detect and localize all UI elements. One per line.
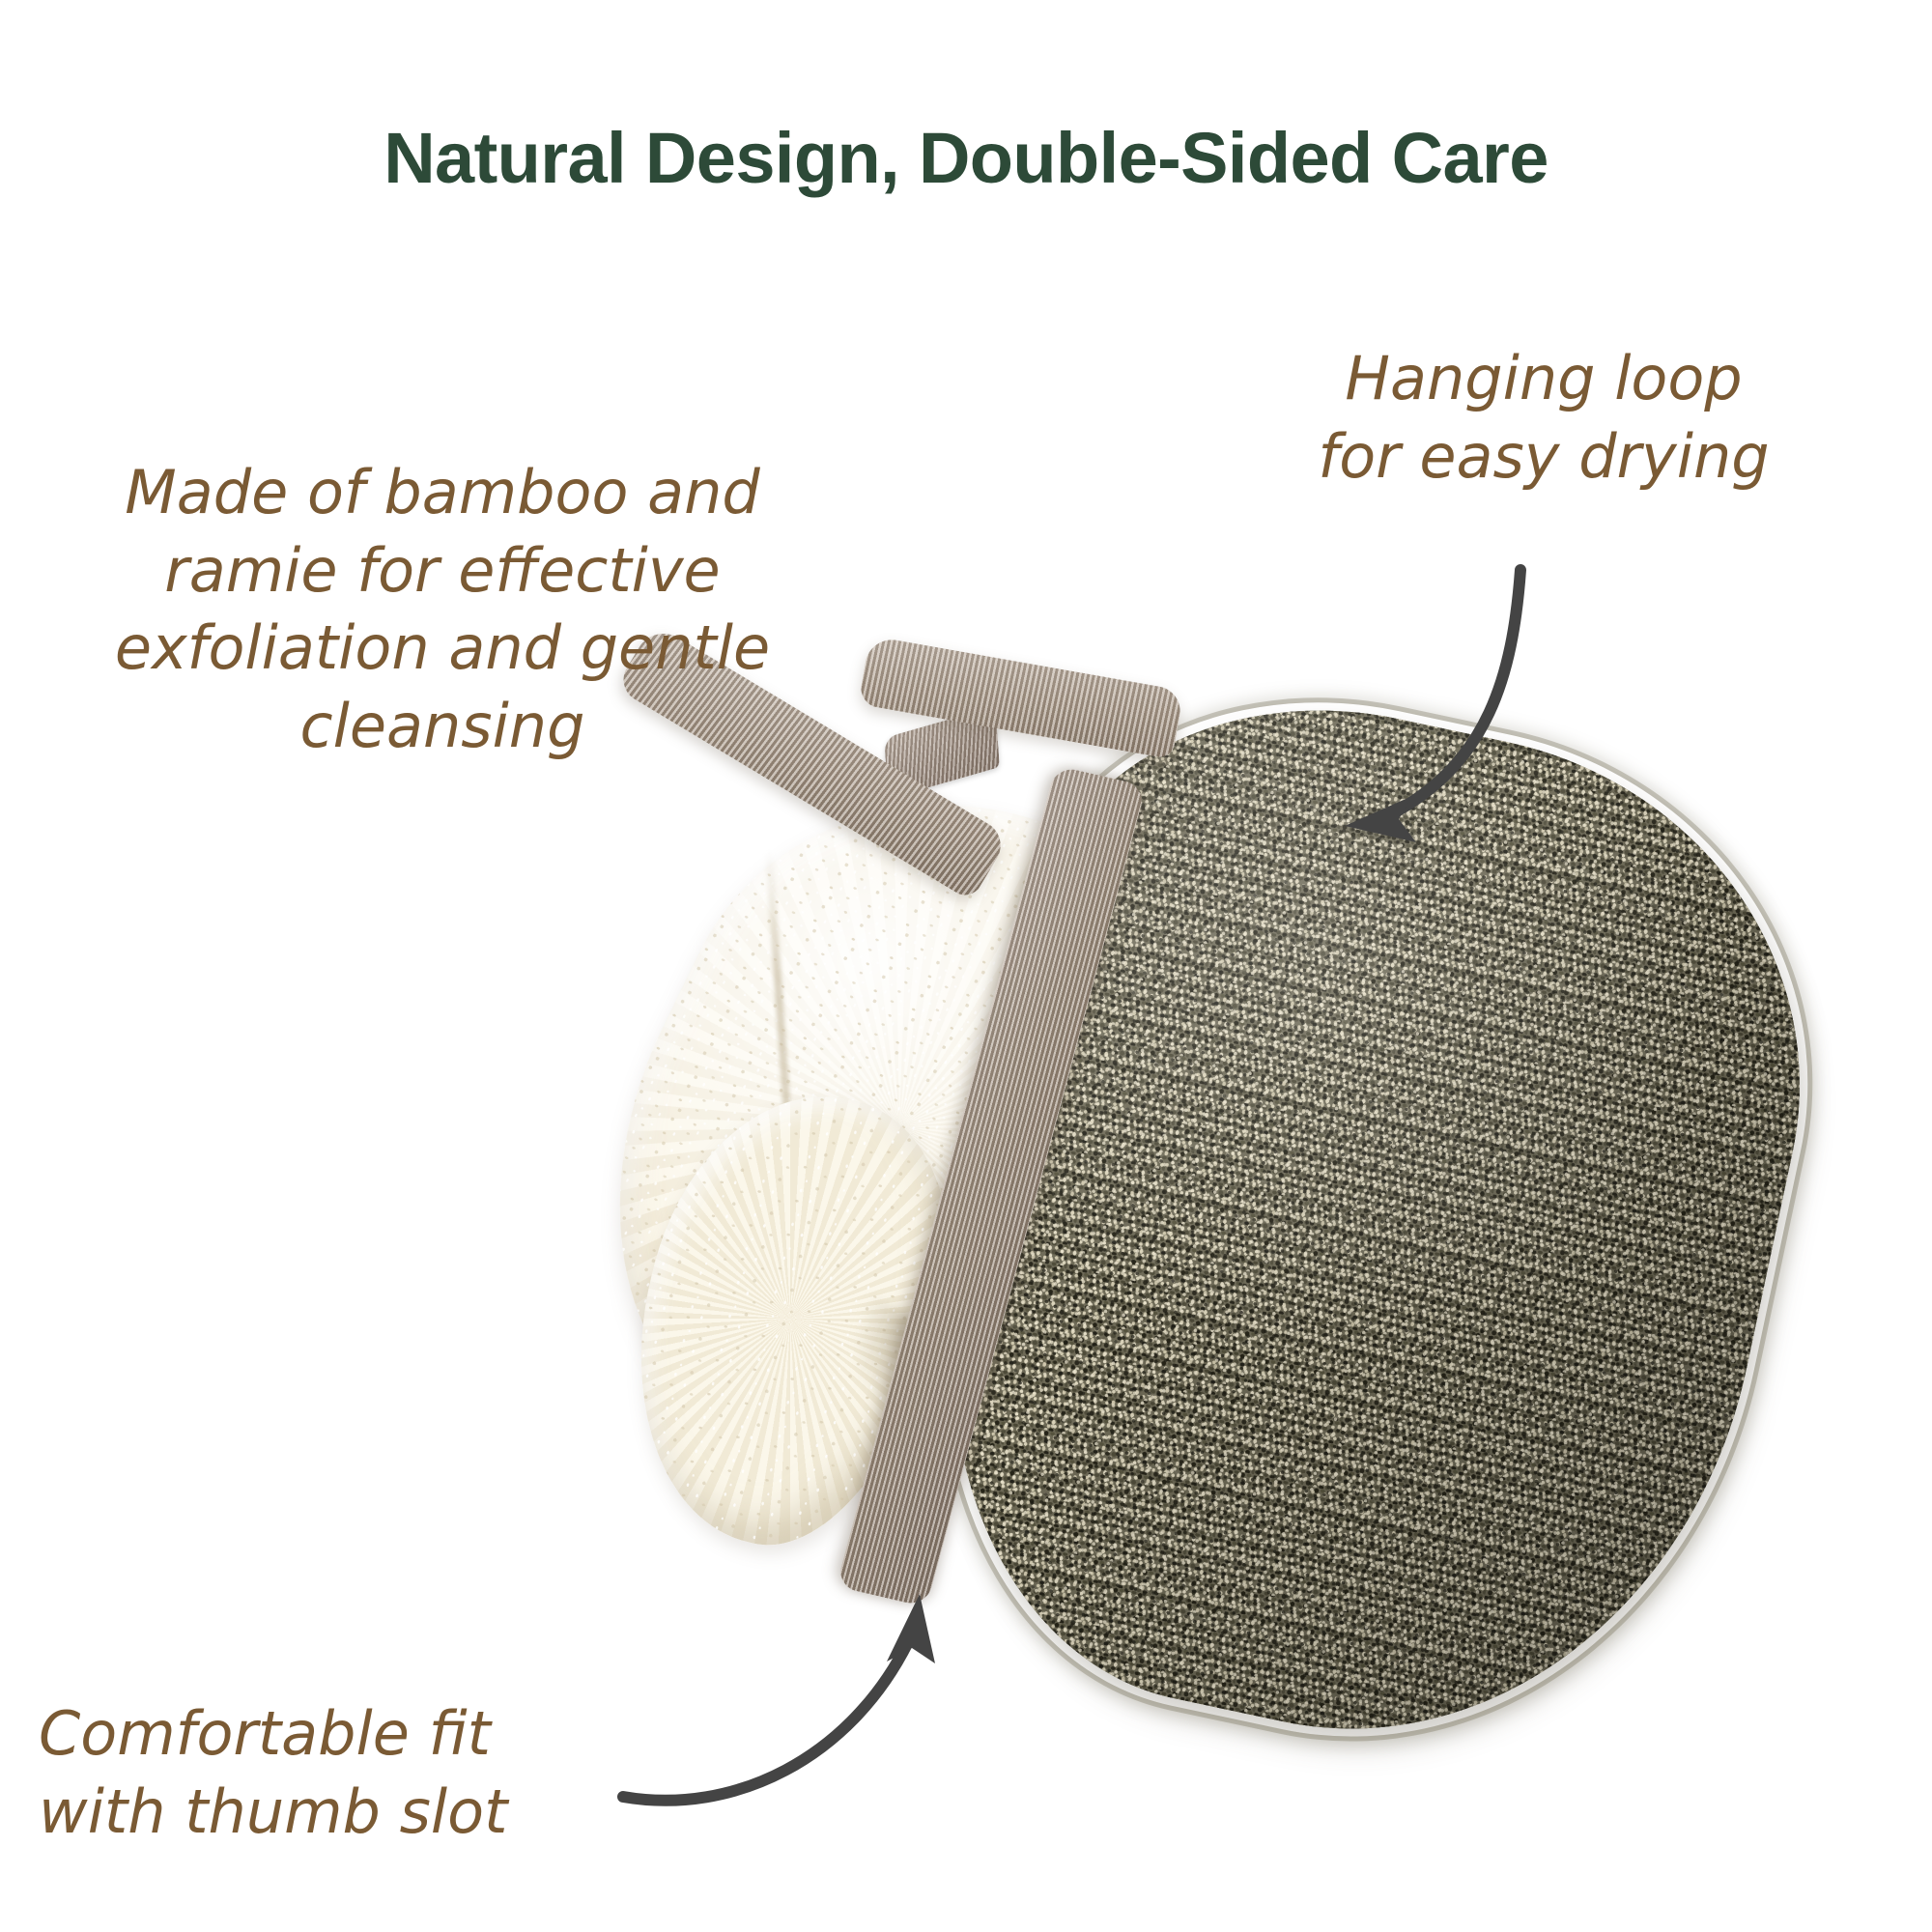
callout-material-text: Made of bamboo and ramie for effective e… <box>27 454 858 765</box>
callout-thumb-slot-line-1: Comfortable fit <box>39 1695 705 1774</box>
page-title: Natural Design, Double-Sided Care <box>0 119 1932 197</box>
callout-hanging-loop-line-2: for easy drying <box>1186 418 1901 497</box>
callout-hanging-loop-line-1: Hanging loop <box>1186 340 1901 418</box>
callout-hanging-loop-text: Hanging loop for easy drying <box>1186 340 1901 496</box>
infographic-canvas: Natural Design, Double-Sided Care <box>0 0 1932 1932</box>
callout-material-line-1: Made of bamboo and <box>27 454 858 532</box>
bath-mitt <box>638 734 1777 1768</box>
callout-thumb-slot-line-2: with thumb slot <box>39 1774 705 1852</box>
callout-material-line-4: cleansing <box>27 688 858 766</box>
callout-material-line-2: ramie for effective <box>27 532 858 611</box>
callout-thumb-slot-text: Comfortable fit with thumb slot <box>39 1695 705 1851</box>
product-image <box>638 734 1777 1768</box>
callout-material-line-3: exfoliation and gentle <box>27 610 858 688</box>
